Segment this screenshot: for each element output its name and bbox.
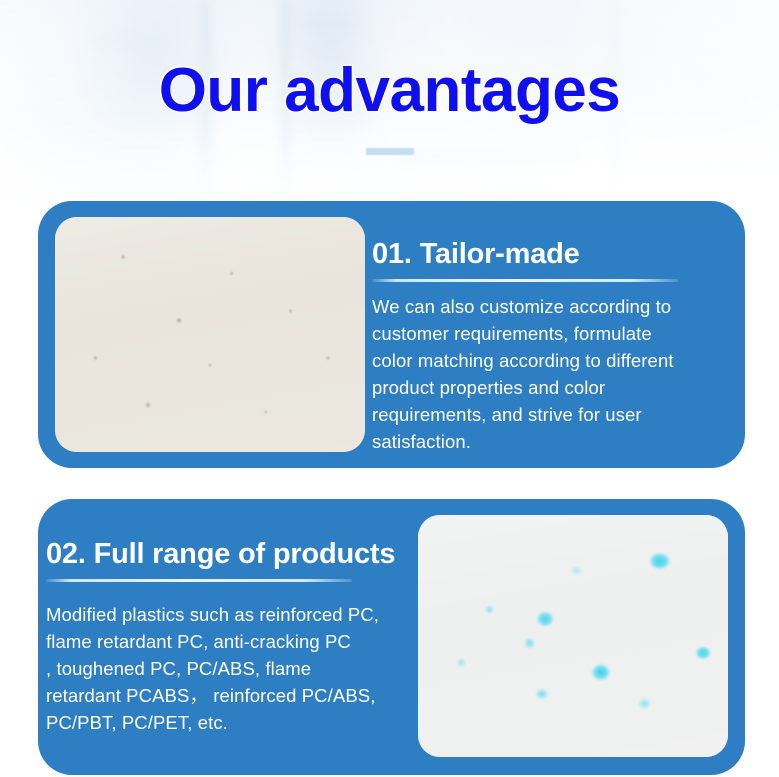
page-heading-wrapper: Our advantages	[0, 56, 779, 126]
clear-granules-with-blue-flecks-photo	[418, 515, 728, 757]
advantage-card-02-divider	[46, 579, 352, 582]
advantages-page: Our advantages 01. Tailor-made We can al…	[0, 0, 779, 777]
advantage-card-01-body: We can also customize according to custo…	[372, 293, 742, 455]
background-streak	[400, 150, 580, 164]
background-streak	[300, 22, 360, 25]
page-title: Our advantages	[159, 56, 621, 126]
background-streak	[96, 40, 166, 43]
advantage-card-02-title: 02. Full range of products	[46, 534, 436, 574]
advantage-card-01-title: 01. Tailor-made	[372, 234, 742, 274]
advantage-card-01-divider	[372, 279, 678, 282]
white-plastic-pellets-photo	[55, 217, 365, 452]
advantage-card-01-content: 01. Tailor-made We can also customize ac…	[372, 234, 742, 455]
advantage-card-02-content: 02. Full range of products Modified plas…	[46, 534, 436, 736]
heading-underline-dash	[366, 148, 414, 155]
advantage-card-02-image	[418, 515, 728, 757]
advantage-card-01-image	[55, 217, 365, 452]
advantage-card-02-body: Modified plastics such as reinforced PC,…	[46, 601, 436, 736]
